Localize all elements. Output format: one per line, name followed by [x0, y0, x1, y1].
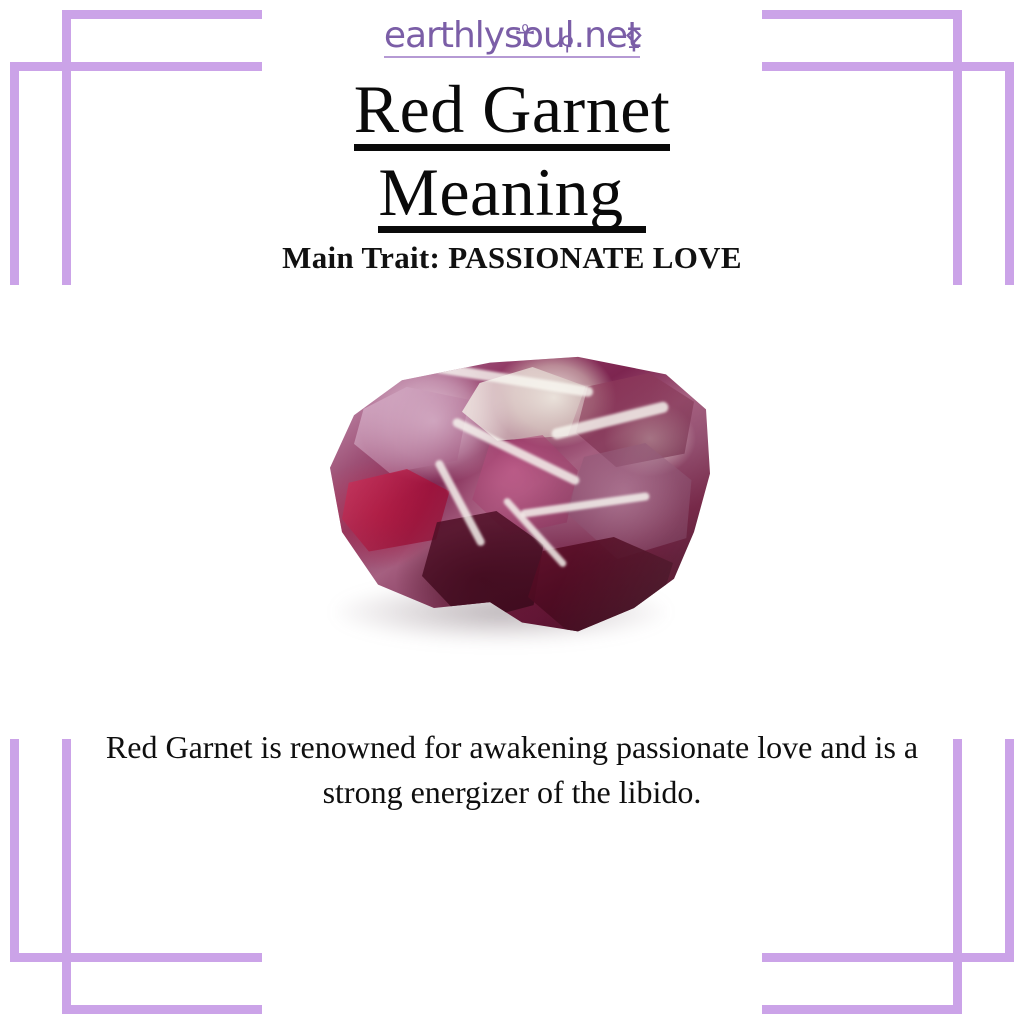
yoga-figure-small-icon: ⚲ — [560, 31, 575, 56]
gemstone-facet — [354, 385, 474, 477]
brand-logo[interactable]: earthlysoul.net ☥ ⚲ ⚴ — [0, 18, 1024, 58]
title-line-two: Meaning — [378, 159, 645, 234]
logo-wrap: earthlysoul.net ☥ ⚲ ⚴ — [384, 18, 640, 58]
yoga-figure-icon: ☥ — [514, 19, 536, 54]
frame-inner-bottom-left-horizontal — [62, 1005, 262, 1014]
description-text: Red Garnet is renowned for awakening pas… — [0, 725, 1024, 816]
title-line-one: Red Garnet — [354, 76, 671, 151]
page-title: Red Garnet Meaning — [0, 76, 1024, 233]
red-garnet-crystal — [302, 345, 722, 665]
title-row-2: Meaning — [0, 159, 1024, 234]
title-row-1: Red Garnet — [0, 76, 1024, 151]
frame-inner-bottom-right-horizontal — [762, 1005, 962, 1014]
main-trait-subtitle: Main Trait: PASSIONATE LOVE — [0, 240, 1024, 276]
frame-outer-top-right-horizontal — [762, 62, 1014, 71]
yoga-figure-tall-icon: ⚴ — [624, 22, 645, 56]
gemstone-image-area — [0, 325, 1024, 685]
frame-outer-top-left-horizontal — [10, 62, 262, 71]
frame-outer-bottom-left-horizontal — [10, 953, 262, 962]
infographic-canvas: earthlysoul.net ☥ ⚲ ⚴ Red Garnet Meaning… — [0, 0, 1024, 1024]
logo-wordmark: earthlysoul.net — [384, 18, 640, 58]
frame-outer-bottom-right-horizontal — [762, 953, 1014, 962]
